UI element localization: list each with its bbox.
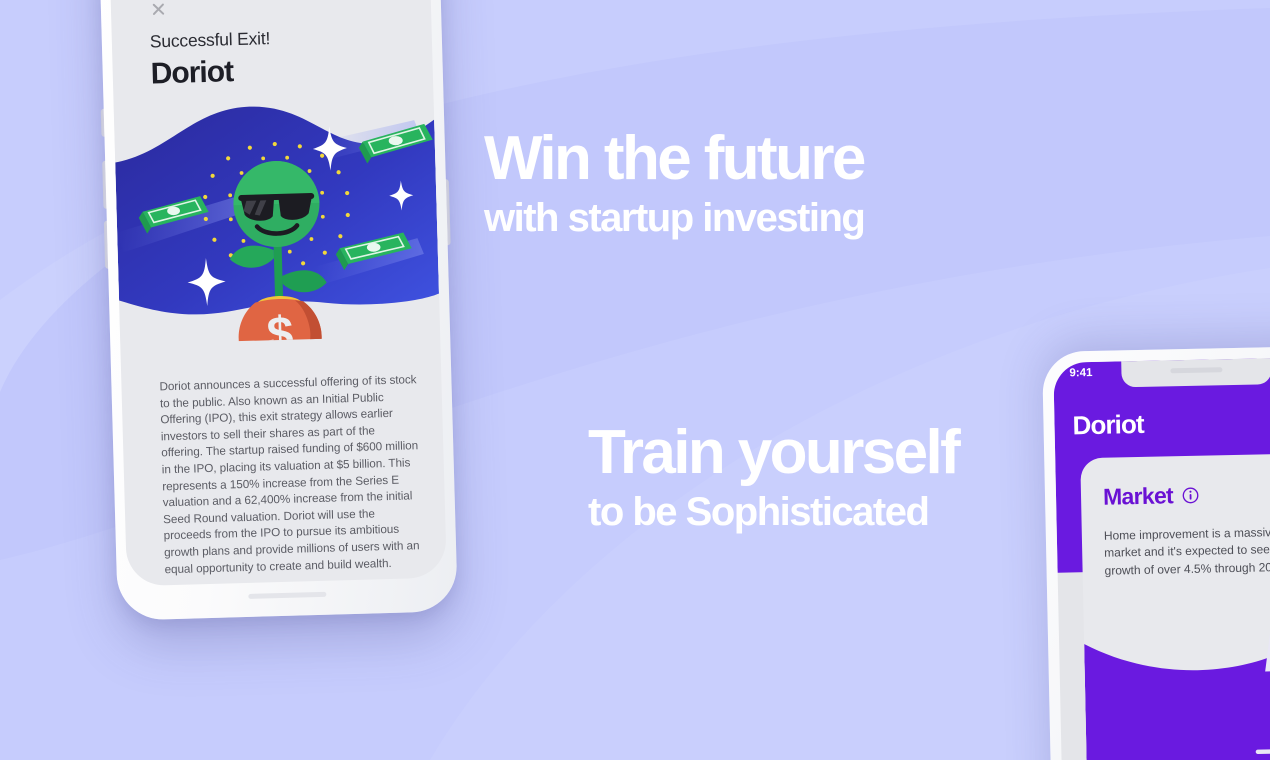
headline-2-sub: to be Sophisticated (588, 486, 958, 538)
market-card: Market Home improvement is a massive $60… (1080, 451, 1270, 760)
market-card-header: Market (1103, 482, 1199, 511)
phone-left-frame: Successful Exit! Doriot (98, 0, 458, 621)
status-bar-time: 9:41 (1069, 367, 1092, 379)
storefront-market-illustration (1083, 599, 1270, 760)
info-icon[interactable] (1182, 487, 1199, 504)
phone-right-screen: 9:41 Doriot Market Home improvement is a… (1053, 356, 1270, 760)
speaker-grille (1170, 367, 1222, 373)
headline-1-sub: with startup investing (484, 192, 864, 244)
close-icon[interactable] (151, 1, 166, 16)
headline-1-main: Win the future (484, 126, 864, 192)
page-stage: Win the future with startup investing Tr… (0, 0, 1270, 760)
phone-right-notch (1121, 358, 1270, 387)
phone-mockup-left: Successful Exit! Doriot (98, 0, 458, 621)
headline-2-main: Train yourself (588, 420, 958, 486)
phone-right-frame: 9:41 Doriot Market Home improvement is a… (1042, 345, 1270, 760)
headline-win-the-future: Win the future with startup investing (484, 126, 864, 244)
company-name: Doriot (150, 55, 233, 91)
phone-left-home-indicator (248, 592, 326, 599)
phone-left-screen: Successful Exit! Doriot (108, 0, 447, 586)
phone-mockup-right: 9:41 Doriot Market Home improvement is a… (1042, 345, 1270, 760)
market-card-body: Home improvement is a massive $600 billi… (1104, 522, 1270, 580)
market-card-title: Market (1103, 482, 1174, 510)
exit-status-label: Successful Exit! (150, 28, 271, 52)
svg-text:$: $ (266, 308, 294, 345)
money-plant-illustration: $ (114, 96, 441, 345)
headline-train-yourself: Train yourself to be Sophisticated (588, 420, 958, 538)
article-body: Doriot announces a successful offering o… (159, 372, 422, 578)
app-title: Doriot (1072, 409, 1144, 441)
